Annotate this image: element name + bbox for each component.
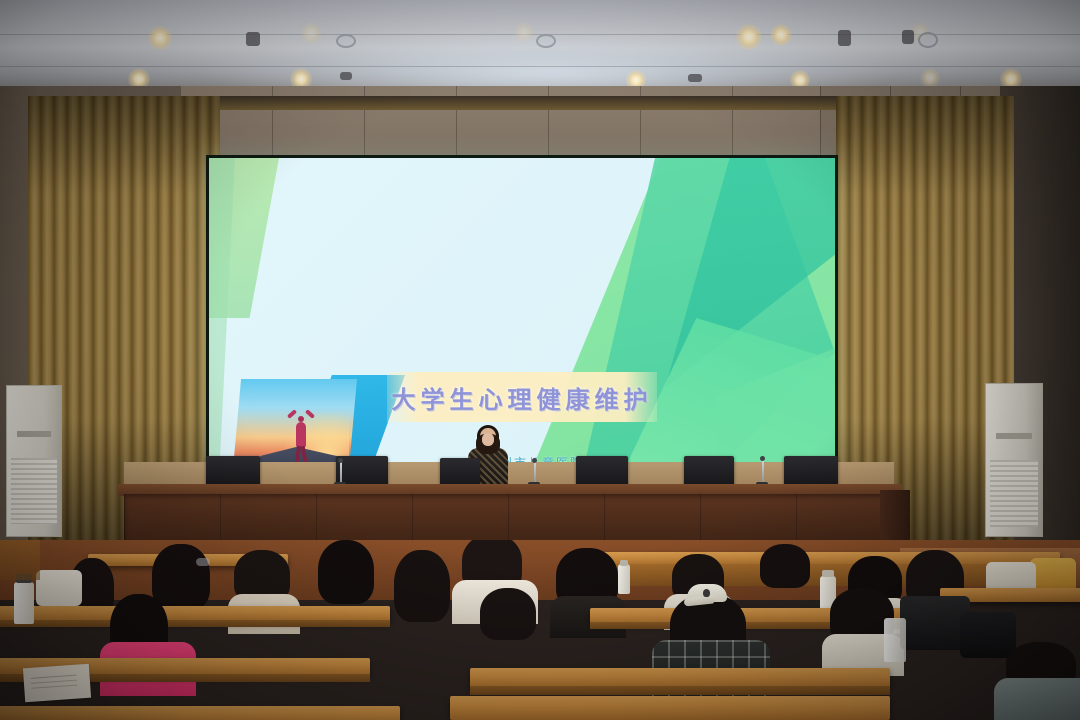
student-hair [318,540,374,604]
water-bottle [884,618,906,662]
plush-toy [1030,558,1076,592]
photo-person-body [296,422,306,448]
ceiling-downlight [514,22,534,42]
ac-grille [11,458,56,524]
list-item [480,588,536,644]
handout-paper [23,664,91,703]
list-item [318,540,374,610]
ceiling-sensor [340,72,352,80]
desk-row-front [0,706,400,720]
ceiling-spotlight-fixture [902,30,914,44]
desk-lip [0,620,390,627]
podium-microphone [534,462,536,484]
student-hair [480,588,536,640]
ceiling-sensor [688,74,702,82]
slide-photo-image [231,379,357,468]
list-item [758,540,812,596]
ceiling-downlight [736,24,762,50]
ac-label [17,431,52,437]
podium-microphone [762,460,764,484]
desk-lip [470,686,890,695]
tote-bag [36,570,82,606]
slide-title: 大学生心理健康维护 [387,372,657,422]
air-conditioner-right [985,383,1043,537]
podium-microphone-head [338,458,343,463]
photo-person-arm-left [287,409,297,419]
lecture-hall-photo: 大学生心理健康维护 杭州市儿童医院 临床心理科 张天燕 ✕ i ◗ ◎ [0,0,1080,720]
presenter-face [482,433,494,446]
ceiling-speaker-grille [336,34,356,48]
podium-monitor [684,456,734,486]
water-bottle [618,564,630,594]
air-conditioner-left [6,385,62,537]
student-white-cap [684,584,730,606]
ceiling-downlight [148,26,172,50]
projection-screen-frame: 大学生心理健康维护 杭州市儿童医院 临床心理科 张天燕 ✕ i ◗ ◎ [206,155,838,471]
presentation-slide: 大学生心理健康维护 杭州市儿童医院 临床心理科 张天燕 ✕ i ◗ ◎ [209,158,835,468]
podium-microphone-head [760,456,765,461]
side-panel [0,540,40,580]
ac-grille [990,460,1037,527]
list-item [394,550,450,624]
ceiling-speaker-grille [536,34,556,48]
podium-monitor [576,456,628,486]
ceiling-spotlight-fixture [838,30,851,46]
slide-photo [231,373,391,468]
ceiling-seam [0,66,1080,67]
desk-row-3 [470,668,890,688]
student-hair [760,544,810,588]
ceiling-downlight [300,22,322,44]
student-grey-top [994,678,1080,720]
bottle-cap [620,560,628,566]
podium-monitor [784,456,838,486]
bottle-cap [822,570,834,577]
podium-monitor [206,456,260,486]
ceiling-speaker-grille [918,32,938,48]
ceiling-spotlight-fixture [246,32,260,46]
student-hair [394,550,450,622]
audience-area [0,540,1080,720]
ceiling-downlight [920,68,940,88]
ceiling-downlight [770,24,792,46]
cap-logo-icon [703,589,710,597]
cap-brim [684,595,715,606]
ac-label [996,433,1032,439]
desk-row-front [450,696,890,720]
podium-microphone-head [532,458,537,463]
glasses-icon [196,558,210,566]
photo-person-silhouette [286,408,316,462]
list-item [1000,642,1080,720]
podium-monitor [440,458,480,486]
podium-microphone [340,462,342,484]
water-bottle [14,582,34,624]
photo-person-arm-right [305,409,315,419]
photo-person-leg-right [301,446,308,462]
